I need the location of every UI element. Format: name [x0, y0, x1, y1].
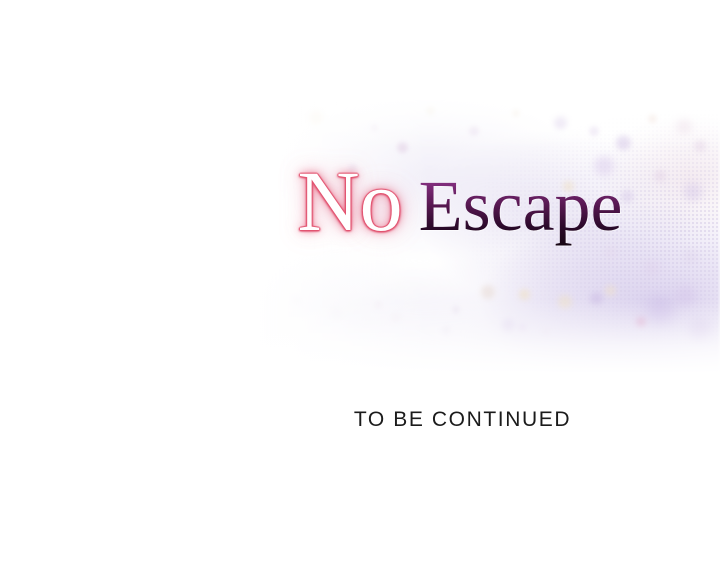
bokeh-circle: [512, 109, 520, 117]
bokeh-circle: [481, 285, 495, 299]
bokeh-circle: [518, 323, 527, 332]
comic-page: NoEscape TO BE CONTINUED: [0, 0, 720, 582]
to-be-continued-label: TO BE CONTINUED: [149, 408, 571, 432]
bokeh-circle: [391, 313, 401, 323]
bokeh-circle: [330, 308, 342, 320]
bokeh-circle: [647, 299, 673, 325]
bokeh-circle: [371, 124, 378, 131]
bokeh-circle: [442, 326, 451, 335]
bokeh-circle: [605, 246, 617, 258]
bokeh-circle: [469, 126, 479, 136]
bokeh-circle: [452, 306, 460, 314]
bokeh-circle: [292, 296, 301, 305]
bokeh-circle: [590, 292, 603, 305]
bokeh-circle: [683, 249, 698, 264]
bokeh-circle: [558, 295, 572, 309]
bokeh-circle: [616, 135, 631, 150]
bokeh-circle: [542, 328, 550, 336]
bokeh-circle: [397, 142, 408, 153]
bokeh-circle: [689, 319, 711, 341]
bokeh-circle: [374, 301, 382, 309]
title-word-escape: Escape: [419, 166, 623, 246]
bokeh-circle: [644, 260, 660, 276]
bokeh-circle: [605, 285, 616, 296]
bokeh-circle: [676, 118, 692, 134]
bokeh-circle: [519, 289, 530, 300]
bokeh-circle: [648, 114, 657, 123]
bokeh-circle: [694, 140, 706, 152]
to-be-continued-caption: TO BE CONTINUED: [0, 408, 720, 432]
page-title: NoEscape: [0, 158, 720, 244]
bokeh-circle: [589, 126, 599, 136]
bokeh-circle: [554, 116, 567, 129]
bokeh-circle: [426, 106, 435, 115]
bokeh-circle: [309, 110, 323, 124]
title-word-no: No: [298, 153, 403, 249]
bokeh-circle: [676, 286, 696, 306]
bokeh-circle: [502, 319, 515, 332]
bokeh-circle: [636, 317, 646, 327]
